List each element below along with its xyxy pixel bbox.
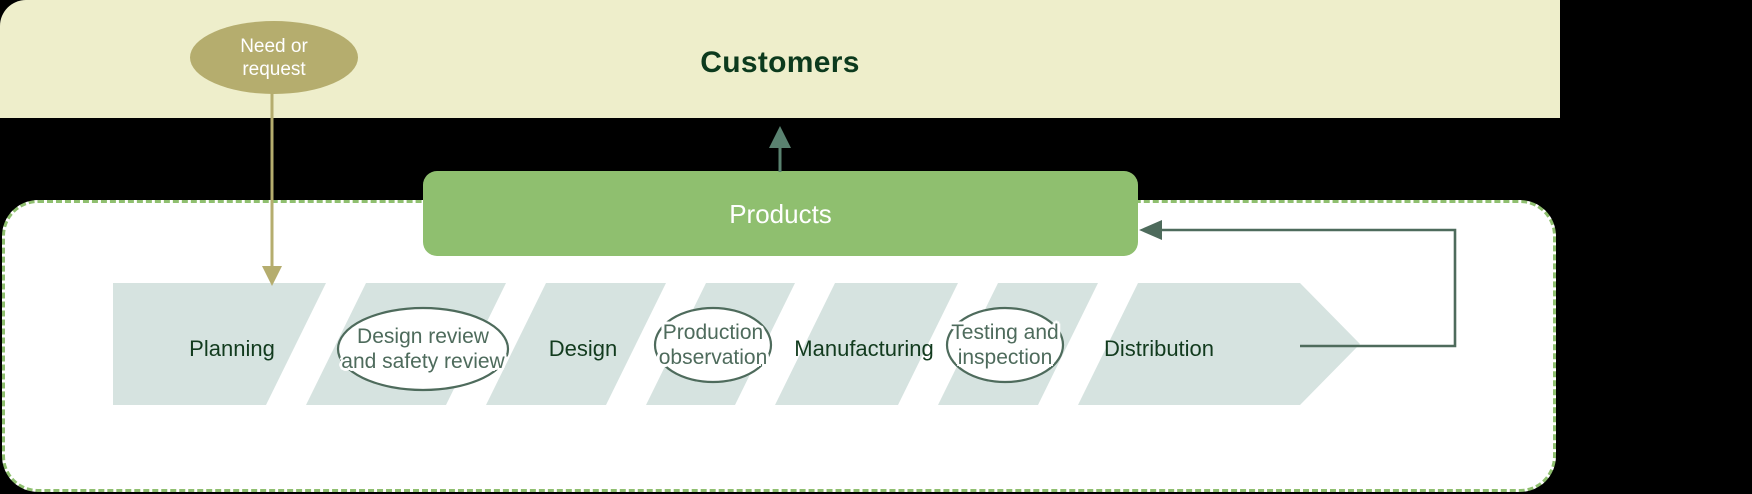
stage-label-distribution[interactable]: Distribution — [1104, 336, 1214, 362]
gate-label-production-observation[interactable]: Production observation — [659, 320, 768, 370]
gate-label-production-observation-line2: observation — [659, 345, 768, 370]
gate-label-design-review-line1: Design review — [341, 324, 504, 349]
gate-label-design-review-line2: and safety review — [341, 349, 504, 374]
stage-label-planning[interactable]: Planning — [189, 336, 275, 362]
gate-label-design-review[interactable]: Design review and safety review — [341, 324, 504, 374]
gate-label-testing-inspection-line2: inspection — [951, 345, 1058, 370]
products-label: Products — [729, 199, 832, 229]
products-bar[interactable]: Products — [423, 171, 1138, 256]
need-or-request-label: Need or request — [209, 35, 339, 81]
gate-label-production-observation-line1: Production — [659, 320, 768, 345]
stage-label-manufacturing[interactable]: Manufacturing — [794, 336, 933, 362]
need-or-request-node[interactable]: Need or request — [190, 21, 358, 94]
gate-label-testing-inspection[interactable]: Testing and inspection — [951, 320, 1058, 370]
gate-label-testing-inspection-line1: Testing and — [951, 320, 1058, 345]
stage-label-design[interactable]: Design — [549, 336, 617, 362]
products-to-customers-arrow — [769, 126, 791, 172]
diagram-canvas: Customers Need or request Products — [0, 0, 1752, 494]
